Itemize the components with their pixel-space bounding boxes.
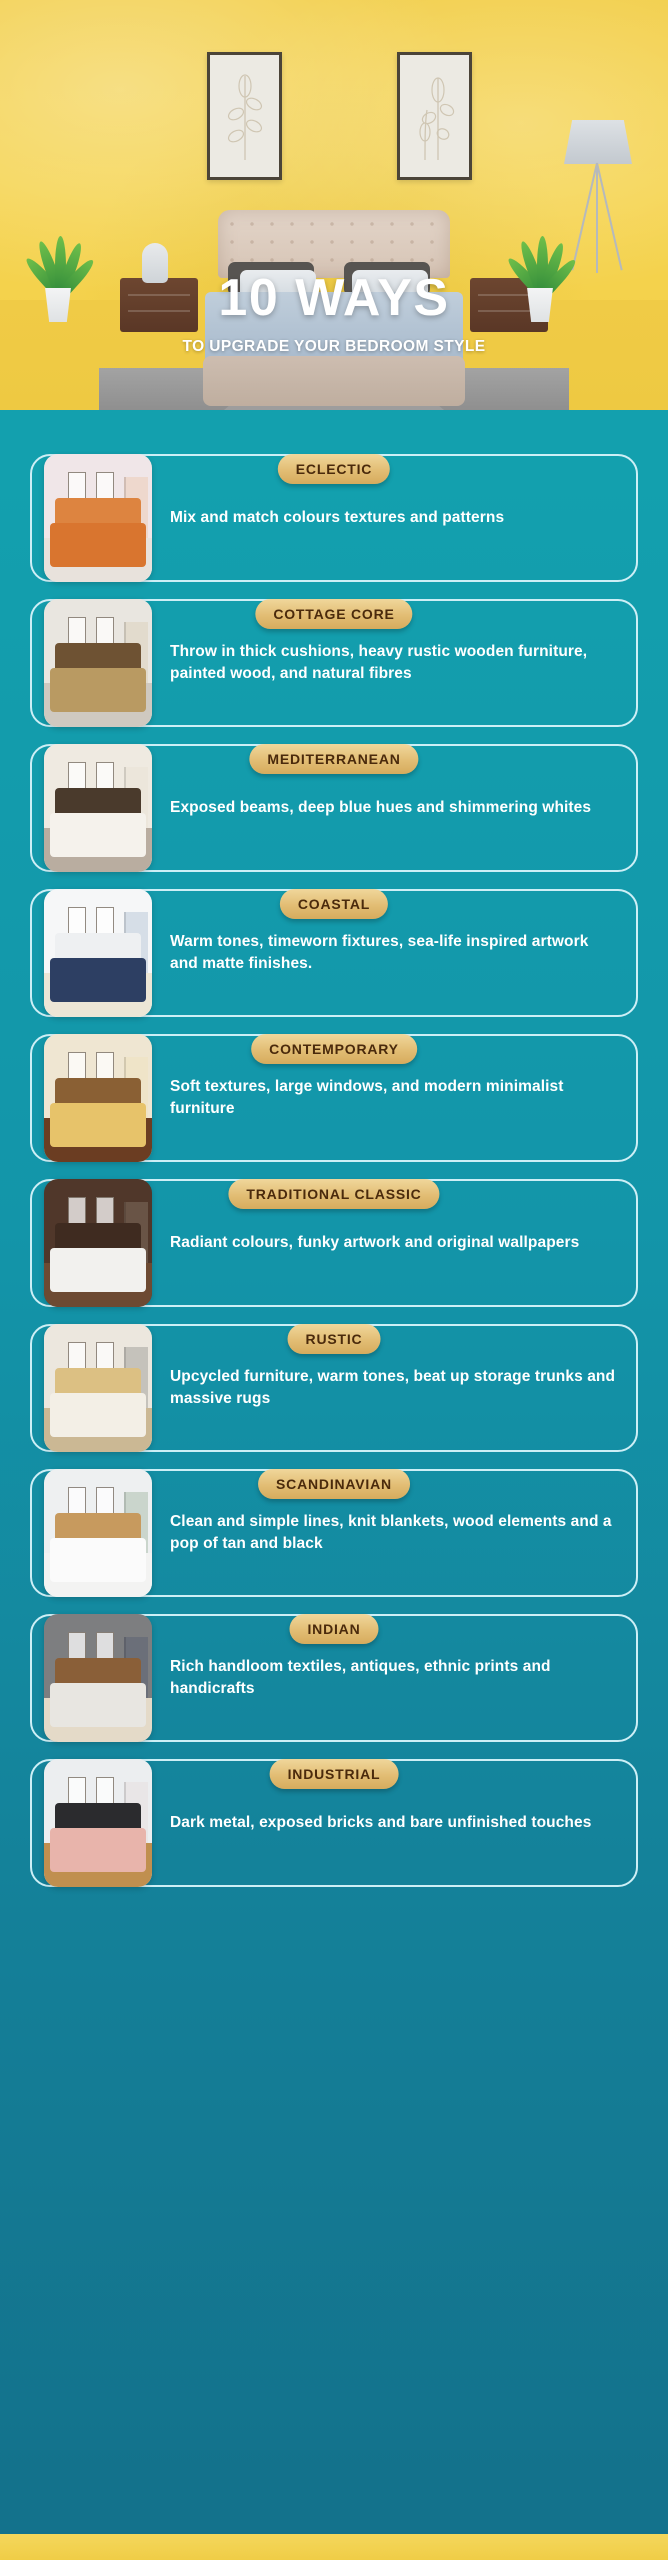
cottage-core-bedroom-thumbnail	[44, 599, 152, 727]
traditional-classic-bedroom-thumbnail	[44, 1179, 152, 1307]
style-card: MEDITERRANEANExposed beams, deep blue hu…	[30, 744, 638, 872]
style-description: Warm tones, timeworn fixtures, sea-life …	[152, 931, 618, 975]
style-description: Dark metal, exposed bricks and bare unfi…	[152, 1812, 618, 1834]
style-badge[interactable]: ECLECTIC	[278, 454, 390, 484]
floor-lamp-legs	[578, 163, 616, 273]
style-badge[interactable]: INDIAN	[289, 1614, 378, 1644]
style-badge[interactable]: SCANDINAVIAN	[258, 1469, 410, 1499]
coastal-bedroom-thumbnail	[44, 889, 152, 1017]
bed-base	[203, 356, 465, 406]
wall-art-frame-left	[207, 52, 282, 180]
infographic-root: 10 WAYS TO UPGRADE YOUR BEDROOM STYLE EC…	[0, 0, 668, 2560]
scandinavian-bedroom-thumbnail	[44, 1469, 152, 1597]
style-badge[interactable]: RUSTIC	[288, 1324, 381, 1354]
mediterranean-bedroom-thumbnail	[44, 744, 152, 872]
indian-bedroom-thumbnail	[44, 1614, 152, 1742]
footer-strip	[0, 2534, 668, 2560]
eclectic-bedroom-thumbnail	[44, 454, 152, 582]
contemporary-bedroom-thumbnail	[44, 1034, 152, 1162]
rustic-bedroom-thumbnail	[44, 1324, 152, 1452]
hero-banner: 10 WAYS TO UPGRADE YOUR BEDROOM STYLE	[0, 0, 668, 410]
page-title: 10 WAYS	[0, 268, 668, 328]
wall-art-frame-right	[397, 52, 472, 180]
leaf-icon	[412, 70, 458, 162]
style-card: ECLECTICMix and match colours textures a…	[30, 454, 638, 582]
style-badge[interactable]: INDUSTRIAL	[270, 1759, 399, 1789]
style-description: Soft textures, large windows, and modern…	[152, 1076, 618, 1120]
style-description: Clean and simple lines, knit blankets, w…	[152, 1511, 618, 1555]
floor-lamp-shade	[564, 120, 632, 164]
style-card: INDUSTRIALDark metal, exposed bricks and…	[30, 1759, 638, 1887]
style-description: Rich handloom textiles, antiques, ethnic…	[152, 1656, 618, 1700]
style-card: CONTEMPORARYSoft textures, large windows…	[30, 1034, 638, 1162]
style-card-list: ECLECTICMix and match colours textures a…	[0, 410, 668, 1944]
style-card: SCANDINAVIANClean and simple lines, knit…	[30, 1469, 638, 1597]
style-card: COASTALWarm tones, timeworn fixtures, se…	[30, 889, 638, 1017]
style-card: RUSTICUpcycled furniture, warm tones, be…	[30, 1324, 638, 1452]
style-badge[interactable]: CONTEMPORARY	[251, 1034, 417, 1064]
style-description: Upcycled furniture, warm tones, beat up …	[152, 1366, 618, 1410]
page-subtitle: TO UPGRADE YOUR BEDROOM STYLE	[0, 338, 668, 356]
style-description: Mix and match colours textures and patte…	[152, 507, 618, 529]
style-card: COTTAGE COREThrow in thick cushions, hea…	[30, 599, 638, 727]
leaf-icon	[225, 70, 265, 162]
style-description: Radiant colours, funky artwork and origi…	[152, 1232, 618, 1254]
style-badge[interactable]: COASTAL	[280, 889, 388, 919]
style-badge[interactable]: COTTAGE CORE	[255, 599, 412, 629]
style-badge[interactable]: TRADITIONAL CLASSIC	[228, 1179, 439, 1209]
style-description: Throw in thick cushions, heavy rustic wo…	[152, 641, 618, 685]
style-card: TRADITIONAL CLASSICRadiant colours, funk…	[30, 1179, 638, 1307]
industrial-bedroom-thumbnail	[44, 1759, 152, 1887]
style-description: Exposed beams, deep blue hues and shimme…	[152, 797, 618, 819]
style-card: INDIANRich handloom textiles, antiques, …	[30, 1614, 638, 1742]
style-badge[interactable]: MEDITERRANEAN	[249, 744, 418, 774]
